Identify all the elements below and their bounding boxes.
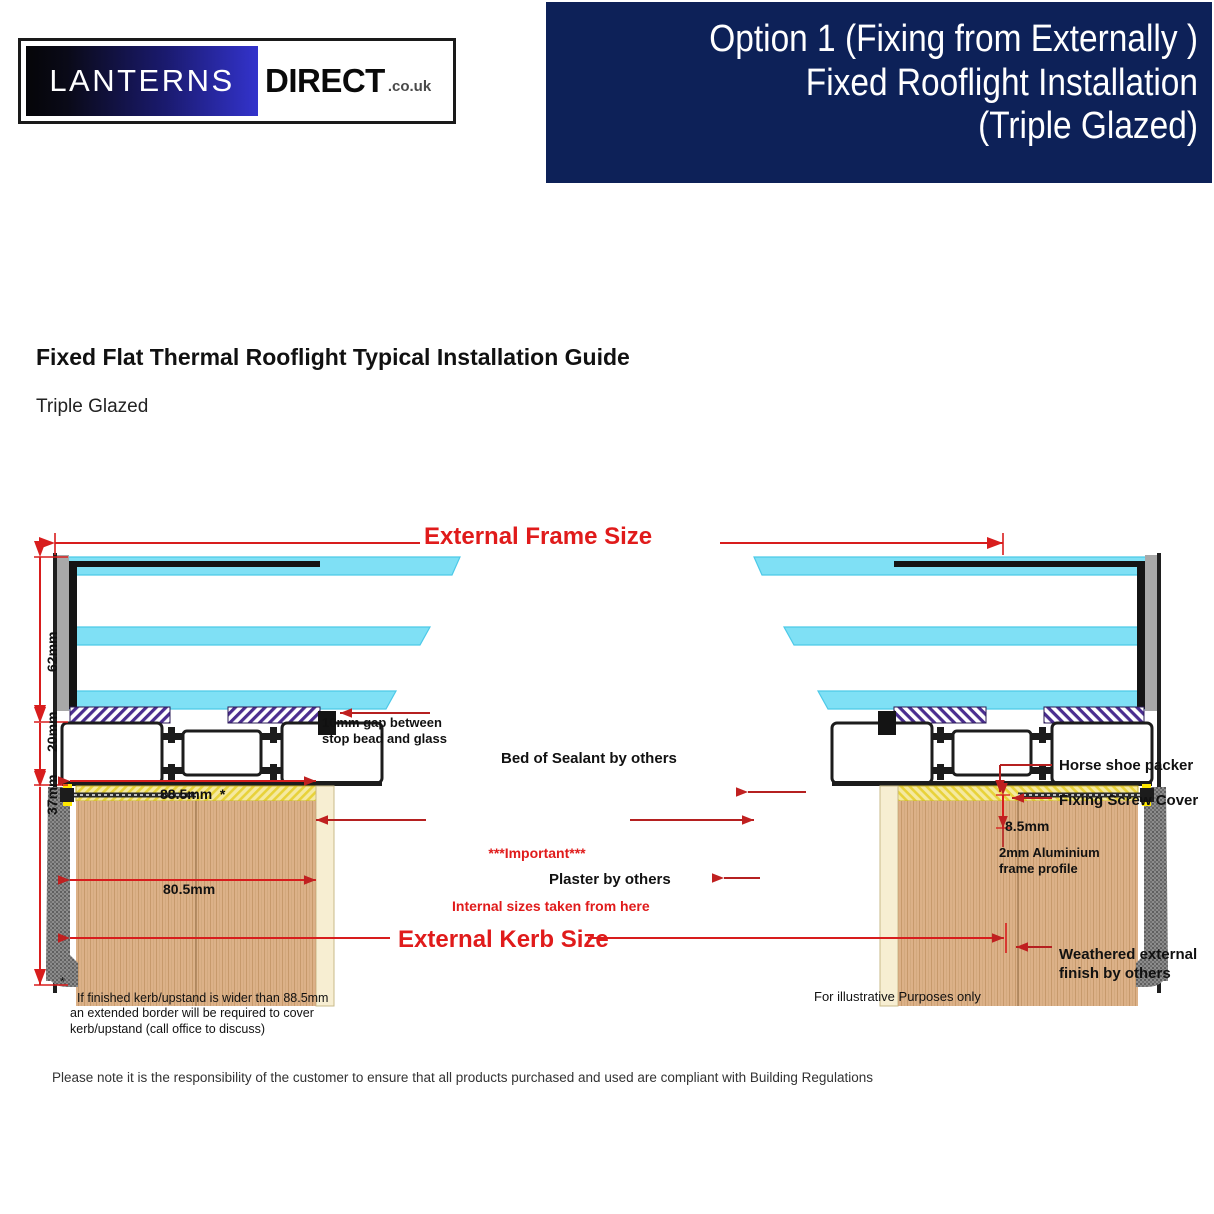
label-weathered-finish: Weathered external finish by others	[1059, 946, 1197, 984]
logo-right-panel: DIRECT .co.uk	[258, 41, 453, 121]
footnote-marker: *	[60, 975, 65, 991]
logo-word-lanterns: LANTERNS	[49, 63, 234, 99]
label-dim-80-5mm: 80.5mm	[163, 881, 215, 899]
page-title: Fixed Flat Thermal Rooflight Typical Ins…	[36, 344, 630, 371]
important-line-1: ***Important***	[452, 845, 622, 863]
fixing-screw-cover-left	[60, 788, 74, 802]
glazing-tape-left-a	[70, 707, 170, 723]
title-banner: Option 1 (Fixing from Externally ) Fixed…	[546, 2, 1212, 183]
banner-line-2: Fixed Rooflight Installation	[635, 62, 1198, 106]
label-dim-37mm: 37mm	[44, 775, 60, 815]
label-horse-shoe-packer: Horse shoe packer	[1059, 757, 1193, 776]
page-header: LANTERNS DIRECT .co.uk Option 1 (Fixing …	[0, 0, 1214, 190]
logo-gradient-panel: LANTERNS	[26, 46, 258, 116]
label-external-frame-size: External Frame Size	[424, 522, 652, 552]
extrusion-base-right	[832, 781, 1152, 786]
label-bed-of-sealant: Bed of Sealant by others	[501, 750, 677, 769]
outer-skin-right	[1145, 555, 1159, 711]
label-dim-8-5mm: 8.5mm	[1005, 818, 1049, 836]
label-plaster: Plaster by others	[549, 871, 671, 890]
label-fixing-screw-cover: Fixing Screw Cover	[1059, 792, 1198, 811]
banner-line-3: (Triple Glazed)	[635, 105, 1198, 149]
footnote-text: If finished kerb/upstand is wider than 8…	[70, 991, 328, 1036]
spacer-top-right	[894, 561, 1137, 567]
label-stop-bead-gap: 10mm gap between stop bead and glass	[322, 715, 447, 748]
glass-panes-left	[62, 557, 460, 709]
stop-bead-right	[878, 711, 896, 735]
spacer-bar-right	[1137, 561, 1145, 709]
label-dim-88-5mm: 88.5mm *	[160, 786, 225, 804]
banner-line-1: Option 1 (Fixing from Externally )	[635, 18, 1198, 62]
page-subtitle: Triple Glazed	[36, 396, 148, 418]
label-dim-62mm: 62mm	[44, 632, 60, 672]
plaster-right	[880, 786, 898, 1006]
glass-panes-right	[754, 557, 1152, 709]
label-aluminium-profile: 2mm Aluminium frame profile	[999, 845, 1100, 878]
important-line-2: Internal sizes taken from here	[452, 898, 622, 916]
weathered-return-left	[46, 787, 78, 987]
label-dim-20mm: 20mm	[44, 712, 60, 752]
diagram-footnote: *If finished kerb/upstand is wider than …	[70, 975, 328, 1038]
spacer-top-left	[77, 561, 320, 567]
glazing-tape-right-b	[894, 707, 986, 723]
footer-disclaimer: Please note it is the responsibility of …	[52, 1070, 873, 1085]
logo-word-direct: DIRECT	[265, 62, 385, 100]
spacer-bar-left	[69, 561, 77, 709]
glazing-tape-left-b	[228, 707, 320, 723]
logo-tld: .co.uk	[388, 78, 431, 95]
banner-text-block: Option 1 (Fixing from Externally ) Fixed…	[635, 18, 1198, 149]
glazing-tape-right-a	[1044, 707, 1144, 723]
brand-logo[interactable]: LANTERNS DIRECT .co.uk	[18, 38, 456, 124]
illustrative-note: For illustrative Purposes only	[814, 989, 981, 1005]
